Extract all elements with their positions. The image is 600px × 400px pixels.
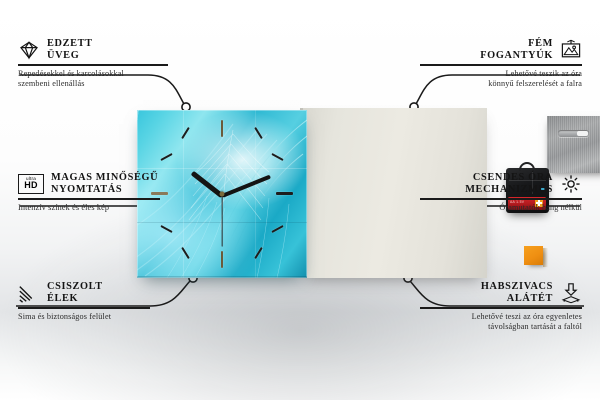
metal-hanger-plate bbox=[547, 116, 600, 173]
title-underline bbox=[18, 198, 160, 200]
diamond-icon bbox=[18, 39, 40, 61]
dial-tick-4 bbox=[271, 225, 283, 233]
callout-description: Repedésekkel és karcolásokkalszembeni el… bbox=[18, 69, 178, 90]
callout-title: CSISZOLTÉLEK bbox=[47, 281, 103, 304]
callout-description: Óramutatók hang nélkül bbox=[420, 203, 582, 213]
foam-pad-press-icon bbox=[560, 282, 582, 304]
dial-tick-5 bbox=[254, 247, 263, 259]
title-underline bbox=[420, 64, 582, 66]
callout-title: MAGAS MINŐSÉGŰNYOMTATÁS bbox=[51, 172, 158, 195]
dial-tick-3 bbox=[276, 192, 293, 195]
dial-tick-1 bbox=[254, 127, 263, 139]
callout-title: CSENDES ÓRAMECHANIZMUS bbox=[465, 172, 553, 195]
dial-tick-8 bbox=[160, 225, 172, 233]
movement-hanging-loop bbox=[519, 162, 535, 171]
title-underline bbox=[420, 198, 582, 200]
dial-tick-7 bbox=[181, 247, 190, 259]
hands-center-cap bbox=[220, 192, 225, 197]
hanger-slot bbox=[558, 130, 589, 137]
title-underline bbox=[18, 307, 150, 309]
callout-title: EDZETTÜVEG bbox=[47, 38, 93, 61]
callout-tempered-glass: EDZETTÜVEG Repedésekkel és karcolásokkal… bbox=[18, 38, 178, 90]
minute-hand bbox=[221, 175, 271, 198]
gear-icon bbox=[560, 173, 582, 195]
ultra-hd-badge-icon: ultra HD bbox=[18, 174, 44, 194]
infographic-canvas: AA 1.5V bbox=[0, 0, 600, 400]
foam-spacer-pad bbox=[524, 246, 543, 265]
dial-tick-6 bbox=[221, 251, 223, 268]
callout-silent-mechanism: CSENDES ÓRAMECHANIZMUS Óramutatók hang n… bbox=[420, 172, 582, 213]
dial-tick-12 bbox=[221, 120, 223, 137]
callout-foam-pad: HABSZIVACSALÁTÉT Lehetővé teszi az óra e… bbox=[420, 281, 582, 333]
callout-polished-edges: CSISZOLTÉLEK Sima és biztonságos felület bbox=[18, 281, 178, 322]
callout-description: Lehetővé teszi az óra egyenletestávolság… bbox=[420, 312, 582, 333]
polished-edges-icon bbox=[18, 282, 40, 304]
callout-title: FÉMFOGANTYÚK bbox=[480, 38, 553, 61]
callout-title: HABSZIVACSALÁTÉT bbox=[481, 281, 553, 304]
callout-hd-print: ultra HD MAGAS MINŐSÉGŰNYOMTATÁS Intenzí… bbox=[18, 172, 188, 213]
title-underline bbox=[420, 307, 582, 309]
picture-hanger-icon bbox=[560, 39, 582, 61]
callout-metal-handles: FÉMFOGANTYÚK Lehetővé teszik az órakönny… bbox=[420, 38, 582, 90]
callout-description: Sima és biztonságos felület bbox=[18, 312, 178, 322]
ultra-hd-big-label: HD bbox=[24, 181, 37, 190]
dial-tick-2 bbox=[271, 153, 283, 161]
title-underline bbox=[18, 64, 168, 66]
second-hand bbox=[221, 195, 222, 247]
hour-hand bbox=[191, 171, 224, 198]
dial-tick-10 bbox=[160, 153, 172, 161]
callout-description: Lehetővé teszik az órakönnyű felszerelés… bbox=[420, 69, 582, 90]
callout-description: Intenzív színek és éles kép bbox=[18, 203, 188, 213]
dial-tick-11 bbox=[181, 127, 190, 139]
